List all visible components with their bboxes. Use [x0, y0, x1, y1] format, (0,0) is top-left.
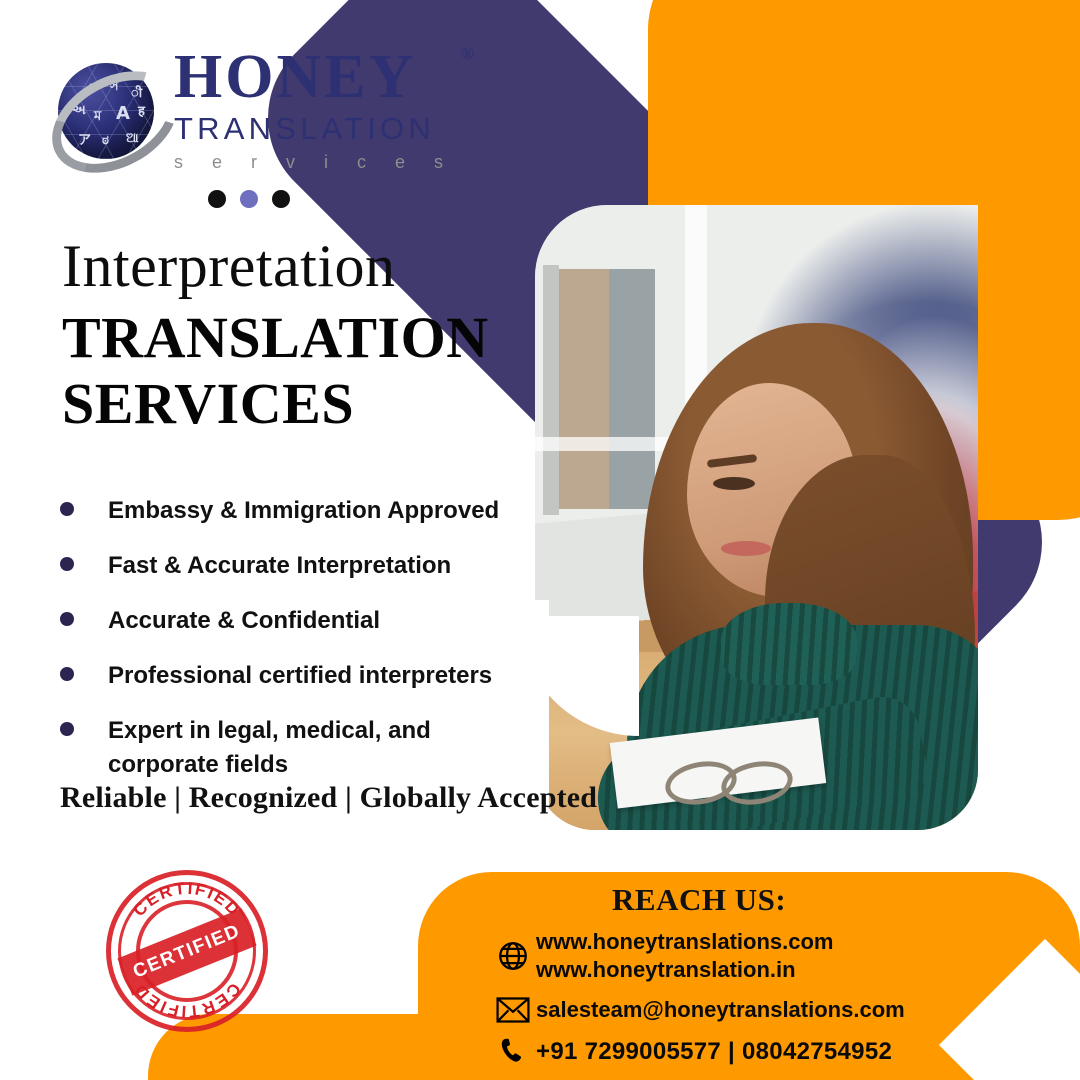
decor-dot-2 [240, 190, 258, 208]
headline-main: TRANSLATION SERVICES [62, 305, 532, 437]
list-item-label: Professional certified interpreters [108, 659, 492, 693]
brand-name-secondary: TRANSLATION [174, 110, 455, 149]
decor-dot-3 [272, 190, 290, 208]
bullet-dot-icon [60, 667, 74, 681]
headline-block: Interpretation TRANSLATION SERVICES [62, 236, 532, 437]
contact-row-phone[interactable]: +91 7299005577 | 08042754952 [490, 1036, 1050, 1068]
registered-trademark-icon: ® [461, 46, 477, 62]
photo-shelf-post [543, 265, 559, 515]
list-item-label: Embassy & Immigration Approved [108, 494, 499, 528]
contact-phone-text[interactable]: +91 7299005577 | 08042754952 [536, 1037, 892, 1068]
bullet-dot-icon [60, 557, 74, 571]
headline-script: Interpretation [62, 236, 532, 297]
decorative-dots [208, 190, 290, 208]
poster-canvas: க স ी અ ম ह A ア ಠ ଆ HONEY ® TRANSLATION … [0, 0, 1080, 1080]
globe-icon: க স ी અ ম ह A ア ಠ ଆ [52, 57, 160, 165]
interpreter-photo [535, 205, 978, 830]
decor-dot-1 [208, 190, 226, 208]
list-item: Embassy & Immigration Approved [52, 494, 542, 528]
list-item: Professional certified interpreters [52, 659, 542, 693]
photo-turtleneck [721, 603, 857, 685]
envelope-icon [490, 996, 536, 1024]
headline-main-line2: SERVICES [62, 371, 532, 437]
contact-row-website[interactable]: www.honeytranslations.com www.honeytrans… [490, 928, 1050, 984]
brand-wordmark: HONEY ® TRANSLATION s e r v i c e s [174, 48, 455, 173]
photo-book-b [609, 269, 655, 509]
brand-name-text: HONEY [174, 43, 416, 111]
list-item-label: Fast & Accurate Interpretation [108, 549, 451, 583]
brand-name-tertiary: s e r v i c e s [174, 152, 455, 173]
list-item: Expert in legal, medical, and corporate … [52, 714, 542, 782]
brand-logo: க স ी અ ম ह A ア ಠ ଆ HONEY ® TRANSLATION … [52, 48, 455, 173]
list-item-label: Expert in legal, medical, and corporate … [108, 714, 542, 782]
headline-main-line1: TRANSLATION [62, 305, 532, 371]
website-secondary[interactable]: www.honeytranslation.in [536, 956, 833, 984]
photo-eye [713, 477, 755, 490]
certified-stamp-icon: CERTIFIED CERTIFIED CERTIFIED [106, 870, 268, 1032]
photo-lips [721, 541, 771, 556]
contact-email-text[interactable]: salesteam@honeytranslations.com [536, 996, 905, 1024]
phone-icon [490, 1036, 536, 1068]
tagline: Reliable | Recognized | Globally Accepte… [60, 781, 597, 815]
contact-website-text: www.honeytranslations.com www.honeytrans… [536, 928, 833, 984]
feature-list: Embassy & Immigration Approved Fast & Ac… [52, 494, 542, 803]
brand-name-primary: HONEY ® [174, 48, 455, 108]
globe-icon [490, 939, 536, 973]
bullet-dot-icon [60, 722, 74, 736]
website-primary[interactable]: www.honeytranslations.com [536, 928, 833, 956]
contact-heading: REACH US: [612, 882, 786, 918]
contact-row-email[interactable]: salesteam@honeytranslations.com [490, 996, 1050, 1024]
bullet-dot-icon [60, 502, 74, 516]
list-item-label: Accurate & Confidential [108, 604, 380, 638]
list-item: Fast & Accurate Interpretation [52, 549, 542, 583]
bullet-dot-icon [60, 612, 74, 626]
contact-list: www.honeytranslations.com www.honeytrans… [490, 928, 1050, 1080]
list-item: Accurate & Confidential [52, 604, 542, 638]
photo-book-a [559, 269, 609, 509]
